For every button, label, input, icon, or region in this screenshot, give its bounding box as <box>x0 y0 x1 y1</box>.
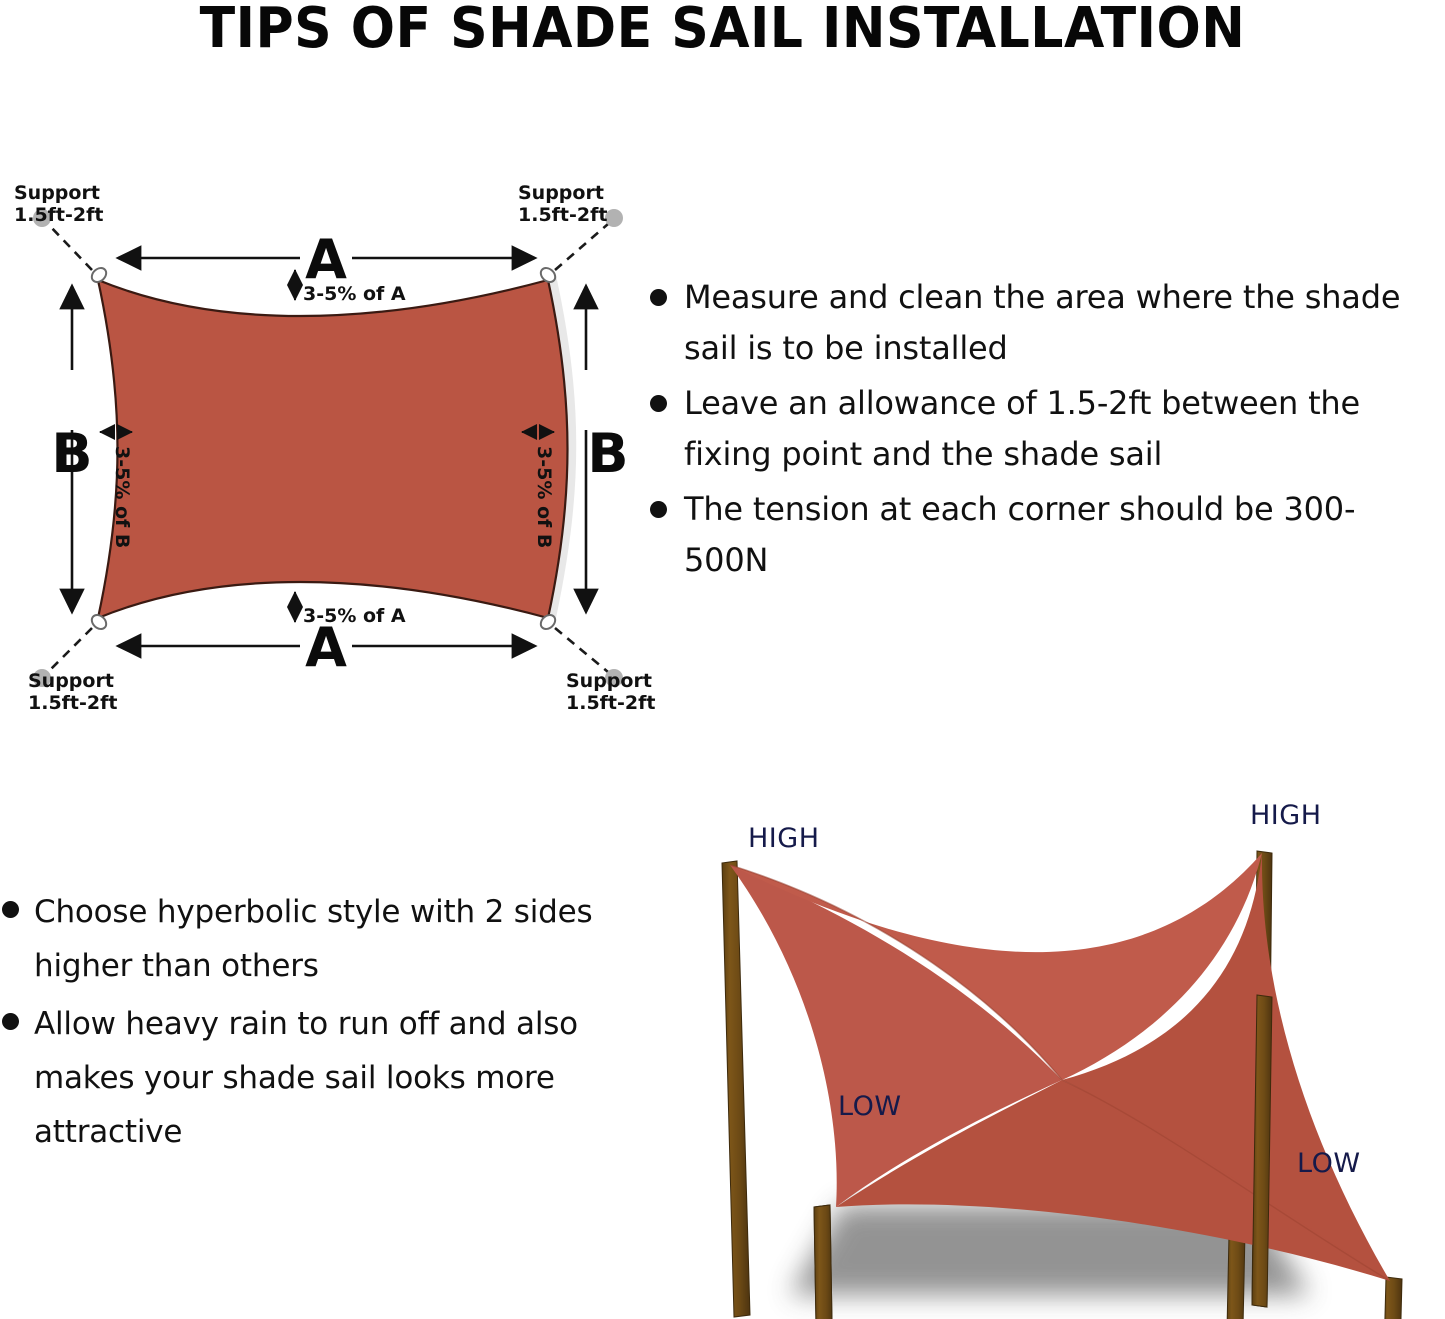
support-label-bottom-right: Support 1.5ft-2ft <box>566 670 655 714</box>
list-item: Leave an allowance of 1.5-2ft between th… <box>650 378 1445 480</box>
support-label-line2: 1.5ft-2ft <box>14 204 103 226</box>
bullet-icon <box>650 501 667 518</box>
page-title: TIPS OF SHADE SAIL INSTALLATION <box>51 0 1395 62</box>
corner-label-high-right: HIGH <box>1250 800 1322 831</box>
curve-label-left: 3-5% of B <box>111 446 133 548</box>
pole-high-left <box>722 861 750 1317</box>
corner-label-high-left: HIGH <box>748 823 820 854</box>
curve-label-right: 3-5% of B <box>533 446 555 548</box>
support-label-line2: 1.5ft-2ft <box>566 692 655 714</box>
list-item: Measure and clean the area where the sha… <box>650 272 1445 374</box>
hyperbolic-sail-illustration: HIGH HIGH LOW LOW <box>690 795 1445 1319</box>
dimension-letter-a-top: A <box>305 228 347 291</box>
bullet-icon <box>2 901 19 918</box>
list-item: The tension at each corner should be 300… <box>650 484 1445 586</box>
support-label-line1: Support <box>28 670 114 692</box>
list-item: Allow heavy rain to run off and also mak… <box>2 997 627 1159</box>
pole-low-left-front <box>814 1205 833 1319</box>
dimension-letter-b-left: B <box>51 422 92 485</box>
tips-list-hyperbolic: Choose hyperbolic style with 2 sides hig… <box>2 885 627 1163</box>
infographic-page: TIPS OF SHADE SAIL INSTALLATION <box>0 0 1445 1319</box>
bullet-icon <box>650 289 667 306</box>
dimension-letter-b-right: B <box>587 422 628 485</box>
support-label-bottom-left: Support 1.5ft-2ft <box>28 670 117 714</box>
support-label-line1: Support <box>14 182 100 204</box>
tip-text: Measure and clean the area where the sha… <box>684 272 1436 374</box>
tip-text: Allow heavy rain to run off and also mak… <box>34 997 609 1159</box>
curve-label-top: 3-5% of A <box>303 283 406 305</box>
tip-text: The tension at each corner should be 300… <box>684 484 1436 586</box>
support-label-line2: 1.5ft-2ft <box>518 204 607 226</box>
pole-low-right <box>1382 1277 1402 1319</box>
rect-sail-diagram: A A B B 3-5% of A 3-5% of A 3-5% of B 3-… <box>0 160 660 740</box>
support-label-line1: Support <box>518 182 604 204</box>
list-item: Choose hyperbolic style with 2 sides hig… <box>2 885 627 993</box>
curve-label-bottom: 3-5% of A <box>303 605 406 627</box>
tip-text: Leave an allowance of 1.5-2ft between th… <box>684 378 1436 480</box>
support-label-line1: Support <box>566 670 652 692</box>
corner-label-low-right: LOW <box>1297 1148 1361 1179</box>
support-label-line2: 1.5ft-2ft <box>28 692 117 714</box>
bullet-icon <box>650 395 667 412</box>
support-label-top-left: Support 1.5ft-2ft <box>14 182 103 226</box>
tip-text: Choose hyperbolic style with 2 sides hig… <box>34 885 609 993</box>
corner-label-low-left: LOW <box>838 1091 902 1122</box>
support-label-top-right: Support 1.5ft-2ft <box>518 182 607 226</box>
bullet-icon <box>2 1013 19 1030</box>
tips-list-installation: Measure and clean the area where the sha… <box>650 272 1445 590</box>
sail-fabric <box>98 280 568 618</box>
